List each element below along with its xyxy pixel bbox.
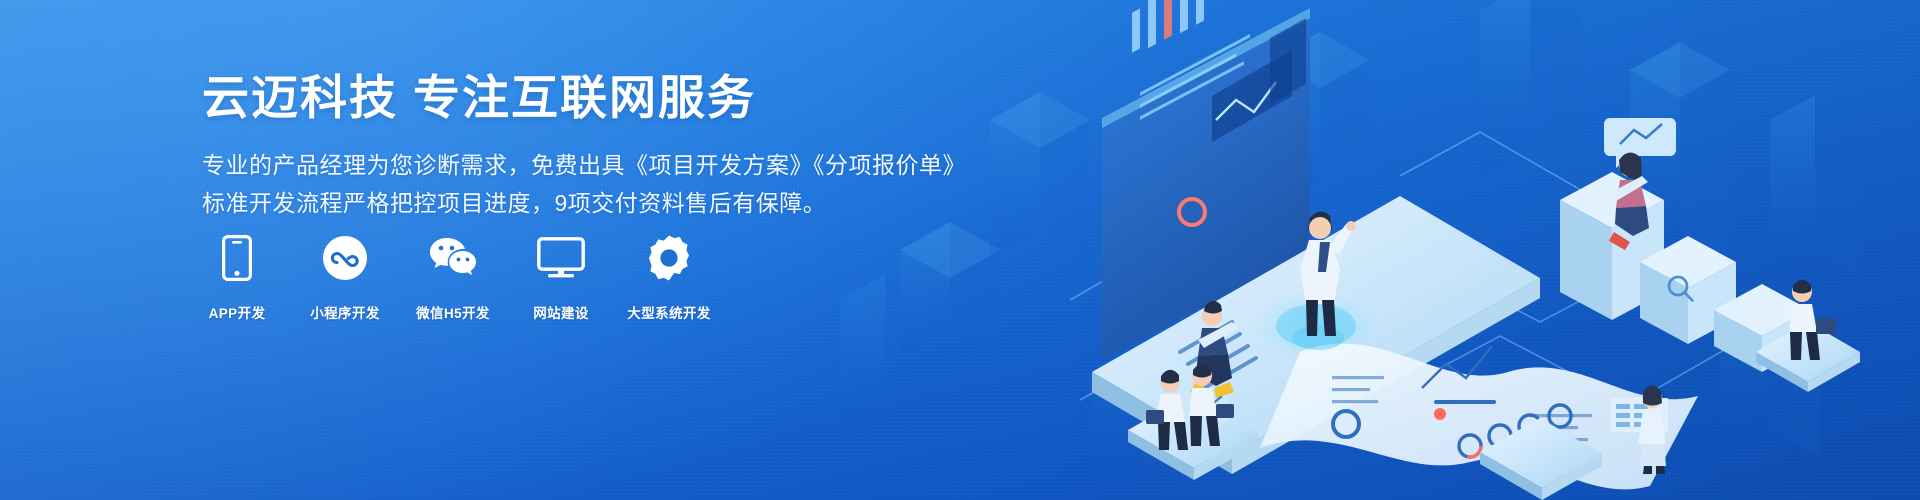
service-label: 大型系统开发 xyxy=(627,302,710,322)
mini-program-icon xyxy=(319,232,371,284)
service-item-app[interactable]: APP开发 xyxy=(200,232,274,322)
service-item-large-system[interactable]: 大型系统开发 xyxy=(632,232,706,322)
gear-icon xyxy=(643,232,695,284)
wechat-icon xyxy=(427,232,479,284)
hero-banner: 云迈科技 专注互联网服务 专业的产品经理为您诊断需求，免费出具《项目开发方案》《… xyxy=(0,0,1920,500)
subtitle-line-2: 标准开发流程严格把控项目进度，9项交付资料售后有保障。 xyxy=(202,185,902,222)
subtitle-line-1: 专业的产品经理为您诊断需求，免费出具《项目开发方案》《分项报价单》 xyxy=(202,147,902,184)
page-title: 云迈科技 专注互联网服务 xyxy=(202,70,902,125)
report-sheet xyxy=(1260,344,1698,490)
hero-copy: 云迈科技 专注互联网服务 专业的产品经理为您诊断需求，免费出具《项目开发方案》《… xyxy=(202,70,902,222)
monitor-icon xyxy=(535,232,587,284)
service-label: APP开发 xyxy=(209,302,266,322)
service-label: 小程序开发 xyxy=(310,302,380,322)
person-standing-pad xyxy=(1638,385,1666,474)
illustration-isometric-tech xyxy=(840,0,1920,500)
service-label: 微信H5开发 xyxy=(416,302,490,322)
subtitle-block: 专业的产品经理为您诊断需求，免费出具《项目开发方案》《分项报价单》 标准开发流程… xyxy=(202,147,902,222)
service-item-website[interactable]: 网站建设 xyxy=(524,232,598,322)
mobile-phone-icon xyxy=(211,232,263,284)
service-label: 网站建设 xyxy=(533,302,589,322)
service-list: APP开发 小程序开发 微信 xyxy=(200,232,706,322)
service-item-wechat-h5[interactable]: 微信H5开发 xyxy=(416,232,490,322)
service-item-mini-program[interactable]: 小程序开发 xyxy=(308,232,382,322)
